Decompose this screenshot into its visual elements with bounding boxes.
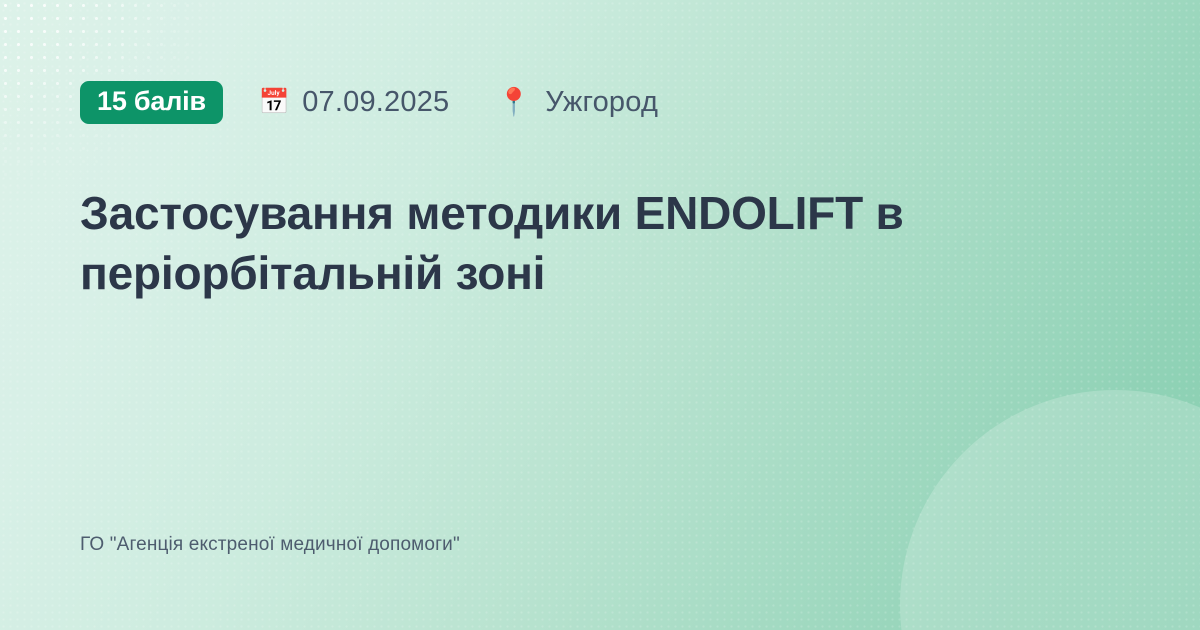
calendar-icon: 📅 (259, 90, 290, 115)
event-location-text: Ужгород (545, 86, 658, 119)
event-card: 15 балів 📅 07.09.2025 📍 Ужгород Застосув… (0, 0, 1200, 630)
location-pin-icon: 📍 (497, 89, 531, 116)
page-title: Застосування методики ENDOLIFT в періорб… (80, 126, 1080, 304)
organizer-name: ГО "Агенція екстреної медичної допомоги" (80, 534, 1120, 630)
meta-row: 15 балів 📅 07.09.2025 📍 Ужгород (80, 78, 1120, 126)
event-date-text: 07.09.2025 (302, 86, 449, 119)
card-content: 15 балів 📅 07.09.2025 📍 Ужгород Застосув… (0, 0, 1200, 630)
event-location: 📍 Ужгород (497, 86, 658, 119)
content-spacer (80, 304, 1120, 534)
points-badge: 15 балів (80, 81, 223, 124)
event-date: 📅 07.09.2025 (259, 86, 449, 119)
